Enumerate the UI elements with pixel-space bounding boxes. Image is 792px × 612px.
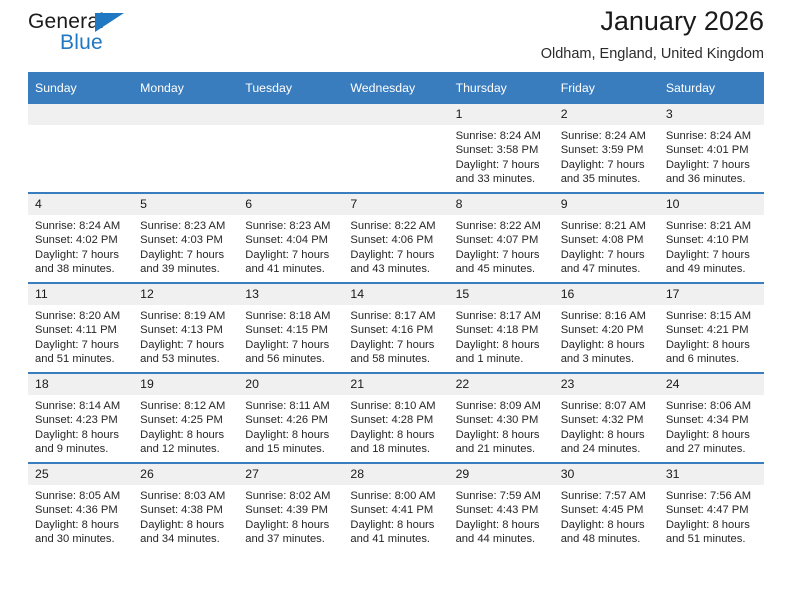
- sunrise-text: Sunrise: 8:10 AM: [350, 399, 442, 413]
- daylight-text-line2: and 15 minutes.: [245, 442, 337, 456]
- calendar-week-row: 4Sunrise: 8:24 AMSunset: 4:02 PMDaylight…: [28, 193, 764, 283]
- calendar-day-cell[interactable]: 12Sunrise: 8:19 AMSunset: 4:13 PMDayligh…: [133, 283, 238, 373]
- calendar-day-cell[interactable]: 7Sunrise: 8:22 AMSunset: 4:06 PMDaylight…: [343, 193, 448, 283]
- daylight-text-line1: Daylight: 8 hours: [350, 428, 442, 442]
- day-details: Sunrise: 8:17 AMSunset: 4:16 PMDaylight:…: [343, 305, 448, 367]
- daylight-text-line1: Daylight: 8 hours: [561, 428, 653, 442]
- daylight-text-line2: and 45 minutes.: [456, 262, 548, 276]
- day-details: Sunrise: 8:02 AMSunset: 4:39 PMDaylight:…: [238, 485, 343, 547]
- daylight-text-line1: Daylight: 7 hours: [561, 248, 653, 262]
- day-details: Sunrise: 8:21 AMSunset: 4:10 PMDaylight:…: [659, 215, 764, 277]
- sunrise-text: Sunrise: 8:06 AM: [666, 399, 758, 413]
- sunset-text: Sunset: 4:23 PM: [35, 413, 127, 427]
- day-number: [28, 104, 133, 125]
- day-details: Sunrise: 7:59 AMSunset: 4:43 PMDaylight:…: [449, 485, 554, 547]
- daylight-text-line1: Daylight: 7 hours: [561, 158, 653, 172]
- sunrise-text: Sunrise: 8:15 AM: [666, 309, 758, 323]
- sunset-text: Sunset: 4:47 PM: [666, 503, 758, 517]
- daylight-text-line2: and 41 minutes.: [245, 262, 337, 276]
- calendar-day-cell[interactable]: 29Sunrise: 7:59 AMSunset: 4:43 PMDayligh…: [449, 463, 554, 552]
- day-number: 23: [554, 374, 659, 395]
- weekday-header-saturday: Saturday: [659, 72, 764, 104]
- sunrise-text: Sunrise: 8:07 AM: [561, 399, 653, 413]
- sunrise-text: Sunrise: 8:19 AM: [140, 309, 232, 323]
- day-details: Sunrise: 8:12 AMSunset: 4:25 PMDaylight:…: [133, 395, 238, 457]
- calendar-day-cell[interactable]: 13Sunrise: 8:18 AMSunset: 4:15 PMDayligh…: [238, 283, 343, 373]
- daylight-text-line2: and 58 minutes.: [350, 352, 442, 366]
- day-details: Sunrise: 8:18 AMSunset: 4:15 PMDaylight:…: [238, 305, 343, 367]
- day-details: Sunrise: 8:05 AMSunset: 4:36 PMDaylight:…: [28, 485, 133, 547]
- day-number: 28: [343, 464, 448, 485]
- day-details: Sunrise: 8:10 AMSunset: 4:28 PMDaylight:…: [343, 395, 448, 457]
- sunset-text: Sunset: 4:41 PM: [350, 503, 442, 517]
- calendar-day-cell[interactable]: 28Sunrise: 8:00 AMSunset: 4:41 PMDayligh…: [343, 463, 448, 552]
- day-details: Sunrise: 8:09 AMSunset: 4:30 PMDaylight:…: [449, 395, 554, 457]
- calendar-day-cell[interactable]: 24Sunrise: 8:06 AMSunset: 4:34 PMDayligh…: [659, 373, 764, 463]
- calendar-day-cell[interactable]: 27Sunrise: 8:02 AMSunset: 4:39 PMDayligh…: [238, 463, 343, 552]
- day-details: Sunrise: 8:17 AMSunset: 4:18 PMDaylight:…: [449, 305, 554, 367]
- day-details: Sunrise: 8:16 AMSunset: 4:20 PMDaylight:…: [554, 305, 659, 367]
- sunrise-text: Sunrise: 8:14 AM: [35, 399, 127, 413]
- daylight-text-line2: and 37 minutes.: [245, 532, 337, 546]
- sunrise-text: Sunrise: 8:22 AM: [456, 219, 548, 233]
- sunset-text: Sunset: 4:26 PM: [245, 413, 337, 427]
- daylight-text-line1: Daylight: 7 hours: [35, 248, 127, 262]
- sunset-text: Sunset: 4:08 PM: [561, 233, 653, 247]
- day-number: 14: [343, 284, 448, 305]
- calendar-week-row: 11Sunrise: 8:20 AMSunset: 4:11 PMDayligh…: [28, 283, 764, 373]
- day-details: Sunrise: 8:19 AMSunset: 4:13 PMDaylight:…: [133, 305, 238, 367]
- daylight-text-line1: Daylight: 7 hours: [456, 158, 548, 172]
- day-number: [238, 104, 343, 125]
- day-details: Sunrise: 8:24 AMSunset: 4:01 PMDaylight:…: [659, 125, 764, 187]
- calendar-day-cell-empty: [133, 104, 238, 193]
- sunset-text: Sunset: 4:34 PM: [666, 413, 758, 427]
- calendar-day-cell[interactable]: 9Sunrise: 8:21 AMSunset: 4:08 PMDaylight…: [554, 193, 659, 283]
- sunrise-text: Sunrise: 8:24 AM: [666, 129, 758, 143]
- day-details: Sunrise: 8:14 AMSunset: 4:23 PMDaylight:…: [28, 395, 133, 457]
- calendar-day-cell-empty: [28, 104, 133, 193]
- sunset-text: Sunset: 4:38 PM: [140, 503, 232, 517]
- calendar-day-cell[interactable]: 1Sunrise: 8:24 AMSunset: 3:58 PMDaylight…: [449, 104, 554, 193]
- daylight-text-line2: and 47 minutes.: [561, 262, 653, 276]
- sunset-text: Sunset: 4:02 PM: [35, 233, 127, 247]
- daylight-text-line2: and 12 minutes.: [140, 442, 232, 456]
- daylight-text-line1: Daylight: 8 hours: [245, 428, 337, 442]
- calendar-day-cell-empty: [238, 104, 343, 193]
- calendar-day-cell[interactable]: 5Sunrise: 8:23 AMSunset: 4:03 PMDaylight…: [133, 193, 238, 283]
- sunrise-text: Sunrise: 8:09 AM: [456, 399, 548, 413]
- daylight-text-line2: and 49 minutes.: [666, 262, 758, 276]
- calendar-body: 1Sunrise: 8:24 AMSunset: 3:58 PMDaylight…: [28, 104, 764, 552]
- sunset-text: Sunset: 4:06 PM: [350, 233, 442, 247]
- daylight-text-line1: Daylight: 8 hours: [561, 338, 653, 352]
- sunrise-text: Sunrise: 8:23 AM: [245, 219, 337, 233]
- day-number: 10: [659, 194, 764, 215]
- day-number: 13: [238, 284, 343, 305]
- day-number: 25: [28, 464, 133, 485]
- daylight-text-line1: Daylight: 8 hours: [456, 428, 548, 442]
- day-number: 12: [133, 284, 238, 305]
- daylight-text-line2: and 44 minutes.: [456, 532, 548, 546]
- sunset-text: Sunset: 4:03 PM: [140, 233, 232, 247]
- sunset-text: Sunset: 4:01 PM: [666, 143, 758, 157]
- calendar-day-cell[interactable]: 31Sunrise: 7:56 AMSunset: 4:47 PMDayligh…: [659, 463, 764, 552]
- weekday-header-tuesday: Tuesday: [238, 72, 343, 104]
- calendar-day-cell[interactable]: 3Sunrise: 8:24 AMSunset: 4:01 PMDaylight…: [659, 104, 764, 193]
- sunset-text: Sunset: 4:16 PM: [350, 323, 442, 337]
- day-number: 6: [238, 194, 343, 215]
- day-number: 18: [28, 374, 133, 395]
- calendar-day-cell[interactable]: 26Sunrise: 8:03 AMSunset: 4:38 PMDayligh…: [133, 463, 238, 552]
- day-details: Sunrise: 8:06 AMSunset: 4:34 PMDaylight:…: [659, 395, 764, 457]
- daylight-text-line1: Daylight: 8 hours: [140, 518, 232, 532]
- sunset-text: Sunset: 3:59 PM: [561, 143, 653, 157]
- daylight-text-line2: and 36 minutes.: [666, 172, 758, 186]
- day-details: Sunrise: 8:24 AMSunset: 3:59 PMDaylight:…: [554, 125, 659, 187]
- daylight-text-line1: Daylight: 7 hours: [35, 338, 127, 352]
- daylight-text-line1: Daylight: 8 hours: [456, 338, 548, 352]
- sunset-text: Sunset: 4:43 PM: [456, 503, 548, 517]
- sunrise-text: Sunrise: 8:16 AM: [561, 309, 653, 323]
- day-number: 31: [659, 464, 764, 485]
- day-number: 26: [133, 464, 238, 485]
- daylight-text-line2: and 43 minutes.: [350, 262, 442, 276]
- daylight-text-line1: Daylight: 8 hours: [666, 428, 758, 442]
- calendar-day-cell[interactable]: 20Sunrise: 8:11 AMSunset: 4:26 PMDayligh…: [238, 373, 343, 463]
- sunset-text: Sunset: 4:32 PM: [561, 413, 653, 427]
- day-number: 20: [238, 374, 343, 395]
- calendar-page: General Blue January 2026 Oldham, Englan…: [0, 0, 792, 612]
- daylight-text-line1: Daylight: 7 hours: [666, 158, 758, 172]
- weekday-header-wednesday: Wednesday: [343, 72, 448, 104]
- daylight-text-line1: Daylight: 8 hours: [35, 518, 127, 532]
- day-number: 24: [659, 374, 764, 395]
- daylight-text-line2: and 51 minutes.: [35, 352, 127, 366]
- sunset-text: Sunset: 4:28 PM: [350, 413, 442, 427]
- sunset-text: Sunset: 4:18 PM: [456, 323, 548, 337]
- daylight-text-line2: and 21 minutes.: [456, 442, 548, 456]
- day-number: 22: [449, 374, 554, 395]
- daylight-text-line2: and 3 minutes.: [561, 352, 653, 366]
- calendar-week-row: 18Sunrise: 8:14 AMSunset: 4:23 PMDayligh…: [28, 373, 764, 463]
- sunrise-text: Sunrise: 8:24 AM: [561, 129, 653, 143]
- day-number: 7: [343, 194, 448, 215]
- sunset-text: Sunset: 4:13 PM: [140, 323, 232, 337]
- daylight-text-line1: Daylight: 8 hours: [456, 518, 548, 532]
- day-details: Sunrise: 8:07 AMSunset: 4:32 PMDaylight:…: [554, 395, 659, 457]
- daylight-text-line2: and 27 minutes.: [666, 442, 758, 456]
- calendar-day-cell[interactable]: 25Sunrise: 8:05 AMSunset: 4:36 PMDayligh…: [28, 463, 133, 552]
- weekday-header-sunday: Sunday: [28, 72, 133, 104]
- calendar-week-row: 1Sunrise: 8:24 AMSunset: 3:58 PMDaylight…: [28, 104, 764, 193]
- calendar-week-row: 25Sunrise: 8:05 AMSunset: 4:36 PMDayligh…: [28, 463, 764, 552]
- sunrise-text: Sunrise: 7:57 AM: [561, 489, 653, 503]
- daylight-text-line2: and 1 minute.: [456, 352, 548, 366]
- calendar-day-cell[interactable]: 17Sunrise: 8:15 AMSunset: 4:21 PMDayligh…: [659, 283, 764, 373]
- calendar-header-row: Sunday Monday Tuesday Wednesday Thursday…: [28, 72, 764, 104]
- daylight-text-line2: and 39 minutes.: [140, 262, 232, 276]
- weekday-header-monday: Monday: [133, 72, 238, 104]
- sunrise-sunset-calendar: Sunday Monday Tuesday Wednesday Thursday…: [28, 72, 764, 552]
- daylight-text-line1: Daylight: 7 hours: [666, 248, 758, 262]
- sunset-text: Sunset: 4:45 PM: [561, 503, 653, 517]
- day-number: 8: [449, 194, 554, 215]
- sunset-text: Sunset: 4:11 PM: [35, 323, 127, 337]
- day-details: Sunrise: 7:56 AMSunset: 4:47 PMDaylight:…: [659, 485, 764, 547]
- daylight-text-line1: Daylight: 7 hours: [245, 248, 337, 262]
- day-number: 16: [554, 284, 659, 305]
- calendar-day-cell[interactable]: 21Sunrise: 8:10 AMSunset: 4:28 PMDayligh…: [343, 373, 448, 463]
- day-details: Sunrise: 8:00 AMSunset: 4:41 PMDaylight:…: [343, 485, 448, 547]
- day-details: Sunrise: 8:11 AMSunset: 4:26 PMDaylight:…: [238, 395, 343, 457]
- daylight-text-line1: Daylight: 8 hours: [245, 518, 337, 532]
- daylight-text-line2: and 30 minutes.: [35, 532, 127, 546]
- calendar-day-cell[interactable]: 8Sunrise: 8:22 AMSunset: 4:07 PMDaylight…: [449, 193, 554, 283]
- daylight-text-line2: and 34 minutes.: [140, 532, 232, 546]
- sunset-text: Sunset: 4:20 PM: [561, 323, 653, 337]
- brand-name-blue: Blue: [60, 31, 103, 55]
- daylight-text-line1: Daylight: 7 hours: [456, 248, 548, 262]
- day-number: 11: [28, 284, 133, 305]
- calendar-day-cell[interactable]: 6Sunrise: 8:23 AMSunset: 4:04 PMDaylight…: [238, 193, 343, 283]
- daylight-text-line1: Daylight: 7 hours: [140, 338, 232, 352]
- day-number: 21: [343, 374, 448, 395]
- calendar-day-cell[interactable]: 18Sunrise: 8:14 AMSunset: 4:23 PMDayligh…: [28, 373, 133, 463]
- daylight-text-line1: Daylight: 8 hours: [35, 428, 127, 442]
- day-number: 30: [554, 464, 659, 485]
- daylight-text-line1: Daylight: 8 hours: [666, 518, 758, 532]
- brand-logo[interactable]: General Blue: [28, 10, 178, 58]
- daylight-text-line1: Daylight: 8 hours: [666, 338, 758, 352]
- sunrise-text: Sunrise: 8:12 AM: [140, 399, 232, 413]
- daylight-text-line2: and 41 minutes.: [350, 532, 442, 546]
- daylight-text-line2: and 38 minutes.: [35, 262, 127, 276]
- calendar-day-cell[interactable]: 15Sunrise: 8:17 AMSunset: 4:18 PMDayligh…: [449, 283, 554, 373]
- calendar-day-cell[interactable]: 11Sunrise: 8:20 AMSunset: 4:11 PMDayligh…: [28, 283, 133, 373]
- day-number: 1: [449, 104, 554, 125]
- daylight-text-line1: Daylight: 7 hours: [245, 338, 337, 352]
- sunrise-text: Sunrise: 8:24 AM: [456, 129, 548, 143]
- day-number: [133, 104, 238, 125]
- sunset-text: Sunset: 4:36 PM: [35, 503, 127, 517]
- daylight-text-line2: and 18 minutes.: [350, 442, 442, 456]
- sunrise-text: Sunrise: 8:17 AM: [456, 309, 548, 323]
- title-block: January 2026 Oldham, England, United Kin…: [541, 4, 764, 65]
- calendar-day-cell[interactable]: 14Sunrise: 8:17 AMSunset: 4:16 PMDayligh…: [343, 283, 448, 373]
- sunrise-text: Sunrise: 8:23 AM: [140, 219, 232, 233]
- calendar-day-cell[interactable]: 19Sunrise: 8:12 AMSunset: 4:25 PMDayligh…: [133, 373, 238, 463]
- sunrise-text: Sunrise: 8:20 AM: [35, 309, 127, 323]
- day-number: 5: [133, 194, 238, 215]
- sunrise-text: Sunrise: 8:22 AM: [350, 219, 442, 233]
- day-details: Sunrise: 8:20 AMSunset: 4:11 PMDaylight:…: [28, 305, 133, 367]
- day-details: Sunrise: 8:21 AMSunset: 4:08 PMDaylight:…: [554, 215, 659, 277]
- day-details: Sunrise: 8:24 AMSunset: 3:58 PMDaylight:…: [449, 125, 554, 187]
- daylight-text-line2: and 33 minutes.: [456, 172, 548, 186]
- sunset-text: Sunset: 4:21 PM: [666, 323, 758, 337]
- sunrise-text: Sunrise: 8:18 AM: [245, 309, 337, 323]
- day-number: 17: [659, 284, 764, 305]
- day-number: 27: [238, 464, 343, 485]
- sunrise-text: Sunrise: 7:56 AM: [666, 489, 758, 503]
- daylight-text-line1: Daylight: 7 hours: [350, 248, 442, 262]
- weekday-header-friday: Friday: [554, 72, 659, 104]
- day-details: Sunrise: 7:57 AMSunset: 4:45 PMDaylight:…: [554, 485, 659, 547]
- daylight-text-line1: Daylight: 8 hours: [561, 518, 653, 532]
- sunrise-text: Sunrise: 8:24 AM: [35, 219, 127, 233]
- daylight-text-line1: Daylight: 8 hours: [350, 518, 442, 532]
- daylight-text-line1: Daylight: 7 hours: [350, 338, 442, 352]
- location-subtitle: Oldham, England, United Kingdom: [541, 43, 764, 65]
- weekday-header-thursday: Thursday: [449, 72, 554, 104]
- sunrise-text: Sunrise: 8:02 AM: [245, 489, 337, 503]
- daylight-text-line2: and 51 minutes.: [666, 532, 758, 546]
- day-number: 9: [554, 194, 659, 215]
- sunset-text: Sunset: 4:39 PM: [245, 503, 337, 517]
- day-number: 4: [28, 194, 133, 215]
- triangle-logo-icon: [95, 13, 124, 32]
- sunrise-text: Sunrise: 8:21 AM: [666, 219, 758, 233]
- day-number: 15: [449, 284, 554, 305]
- calendar-day-cell[interactable]: 10Sunrise: 8:21 AMSunset: 4:10 PMDayligh…: [659, 193, 764, 283]
- day-details: Sunrise: 8:22 AMSunset: 4:07 PMDaylight:…: [449, 215, 554, 277]
- calendar-day-cell[interactable]: 2Sunrise: 8:24 AMSunset: 3:59 PMDaylight…: [554, 104, 659, 193]
- sunset-text: Sunset: 4:04 PM: [245, 233, 337, 247]
- page-header: General Blue January 2026 Oldham, Englan…: [28, 0, 764, 72]
- sunrise-text: Sunrise: 8:05 AM: [35, 489, 127, 503]
- day-details: Sunrise: 8:22 AMSunset: 4:06 PMDaylight:…: [343, 215, 448, 277]
- sunrise-text: Sunrise: 8:00 AM: [350, 489, 442, 503]
- sunset-text: Sunset: 3:58 PM: [456, 143, 548, 157]
- day-details: Sunrise: 8:24 AMSunset: 4:02 PMDaylight:…: [28, 215, 133, 277]
- sunset-text: Sunset: 4:15 PM: [245, 323, 337, 337]
- day-number: 29: [449, 464, 554, 485]
- calendar-day-cell[interactable]: 22Sunrise: 8:09 AMSunset: 4:30 PMDayligh…: [449, 373, 554, 463]
- day-details: Sunrise: 8:03 AMSunset: 4:38 PMDaylight:…: [133, 485, 238, 547]
- daylight-text-line1: Daylight: 7 hours: [140, 248, 232, 262]
- day-number: 2: [554, 104, 659, 125]
- daylight-text-line1: Daylight: 8 hours: [140, 428, 232, 442]
- sunset-text: Sunset: 4:07 PM: [456, 233, 548, 247]
- sunset-text: Sunset: 4:30 PM: [456, 413, 548, 427]
- daylight-text-line2: and 48 minutes.: [561, 532, 653, 546]
- daylight-text-line2: and 56 minutes.: [245, 352, 337, 366]
- daylight-text-line2: and 24 minutes.: [561, 442, 653, 456]
- calendar-day-cell[interactable]: 16Sunrise: 8:16 AMSunset: 4:20 PMDayligh…: [554, 283, 659, 373]
- sunset-text: Sunset: 4:25 PM: [140, 413, 232, 427]
- day-details: Sunrise: 8:23 AMSunset: 4:03 PMDaylight:…: [133, 215, 238, 277]
- daylight-text-line2: and 35 minutes.: [561, 172, 653, 186]
- calendar-day-cell-empty: [343, 104, 448, 193]
- sunrise-text: Sunrise: 8:17 AM: [350, 309, 442, 323]
- day-details: Sunrise: 8:15 AMSunset: 4:21 PMDaylight:…: [659, 305, 764, 367]
- sunrise-text: Sunrise: 8:11 AM: [245, 399, 337, 413]
- day-details: Sunrise: 8:23 AMSunset: 4:04 PMDaylight:…: [238, 215, 343, 277]
- daylight-text-line2: and 53 minutes.: [140, 352, 232, 366]
- sunrise-text: Sunrise: 8:03 AM: [140, 489, 232, 503]
- sunset-text: Sunset: 4:10 PM: [666, 233, 758, 247]
- day-number: 19: [133, 374, 238, 395]
- daylight-text-line2: and 6 minutes.: [666, 352, 758, 366]
- calendar-day-cell[interactable]: 23Sunrise: 8:07 AMSunset: 4:32 PMDayligh…: [554, 373, 659, 463]
- daylight-text-line2: and 9 minutes.: [35, 442, 127, 456]
- page-title: January 2026: [541, 4, 764, 38]
- sunrise-text: Sunrise: 7:59 AM: [456, 489, 548, 503]
- day-number: 3: [659, 104, 764, 125]
- calendar-day-cell[interactable]: 4Sunrise: 8:24 AMSunset: 4:02 PMDaylight…: [28, 193, 133, 283]
- day-number: [343, 104, 448, 125]
- calendar-day-cell[interactable]: 30Sunrise: 7:57 AMSunset: 4:45 PMDayligh…: [554, 463, 659, 552]
- sunrise-text: Sunrise: 8:21 AM: [561, 219, 653, 233]
